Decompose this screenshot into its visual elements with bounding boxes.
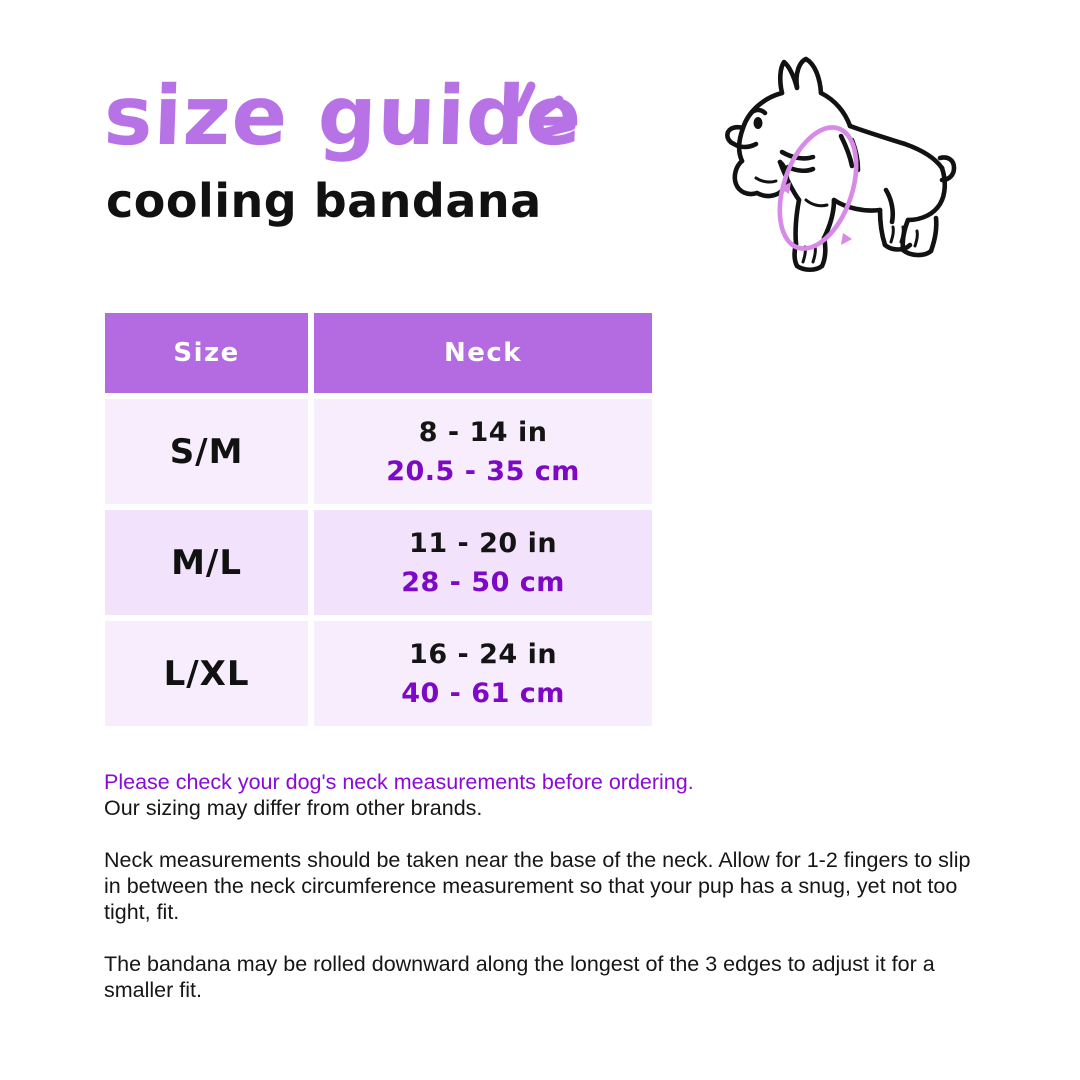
neck-inches: 16 - 24 in [314,641,652,668]
notes-section: Please check your dog's neck measurement… [104,769,980,1003]
note-spacer [104,821,980,847]
column-header-size: Size [105,313,308,393]
table-header: Size Neck [105,313,652,393]
header-block: size guide cooling bandana [104,78,664,224]
note-paragraph-two: The bandana may be rolled downward along… [104,951,980,1003]
note-accent-line: Please check your dog's neck measurement… [104,769,980,795]
neck-centimeters: 28 - 50 cm [314,569,652,596]
table-body: S/M 8 - 14 in 20.5 - 35 cm M/L 11 - 20 i… [105,399,652,726]
page-subtitle: cooling bandana [106,178,664,224]
french-bulldog-illustration [700,40,980,280]
neck-measurement-loop [765,117,870,258]
table-row: L/XL 16 - 24 in 40 - 61 cm [105,621,652,726]
note-spacer [104,925,980,951]
neck-inches: 11 - 20 in [314,530,652,557]
cell-size: S/M [105,399,308,504]
size-table: Size Neck S/M 8 - 14 in 20.5 - 35 cm M/L… [99,307,658,732]
cell-size: L/XL [105,621,308,726]
table-row: S/M 8 - 14 in 20.5 - 35 cm [105,399,652,504]
cell-neck: 8 - 14 in 20.5 - 35 cm [314,399,652,504]
neck-centimeters: 40 - 61 cm [314,680,652,707]
cell-neck: 11 - 20 in 28 - 50 cm [314,510,652,615]
table-row: M/L 11 - 20 in 28 - 50 cm [105,510,652,615]
cell-size: M/L [105,510,308,615]
note-paragraph-one: Neck measurements should be taken near t… [104,847,980,925]
cell-neck: 16 - 24 in 40 - 61 cm [314,621,652,726]
neck-inches: 8 - 14 in [314,419,652,446]
table-header-row: Size Neck [105,313,652,393]
neck-centimeters: 20.5 - 35 cm [314,458,652,485]
sparkle-icon [497,74,587,154]
note-line-two: Our sizing may differ from other brands. [104,795,980,821]
column-header-neck: Neck [314,313,652,393]
